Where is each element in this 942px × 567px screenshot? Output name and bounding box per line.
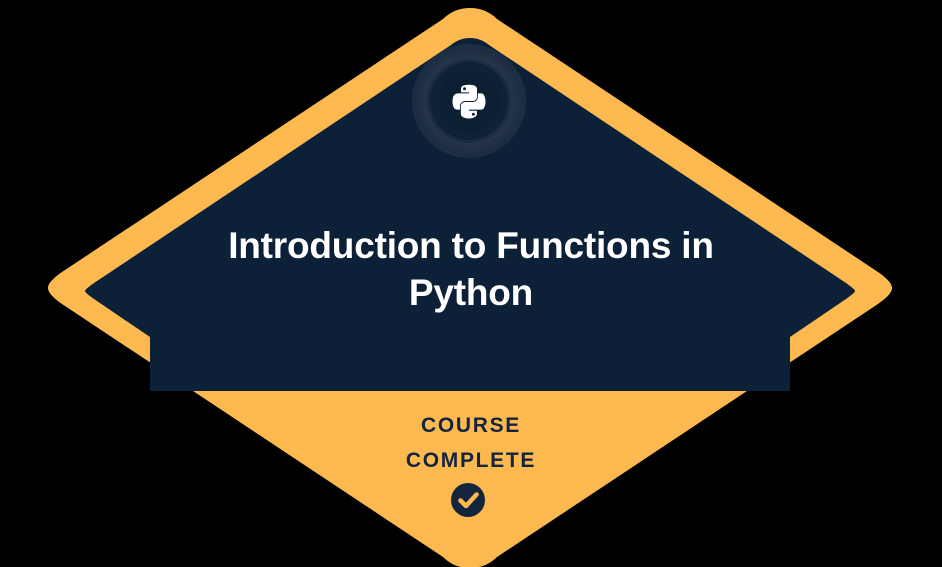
badge-canvas: Introduction to Functions in Python COUR… bbox=[0, 0, 942, 567]
course-completion-badge[interactable] bbox=[0, 0, 942, 567]
logo-halo-rings bbox=[412, 44, 526, 158]
check-circle-icon bbox=[451, 483, 485, 517]
